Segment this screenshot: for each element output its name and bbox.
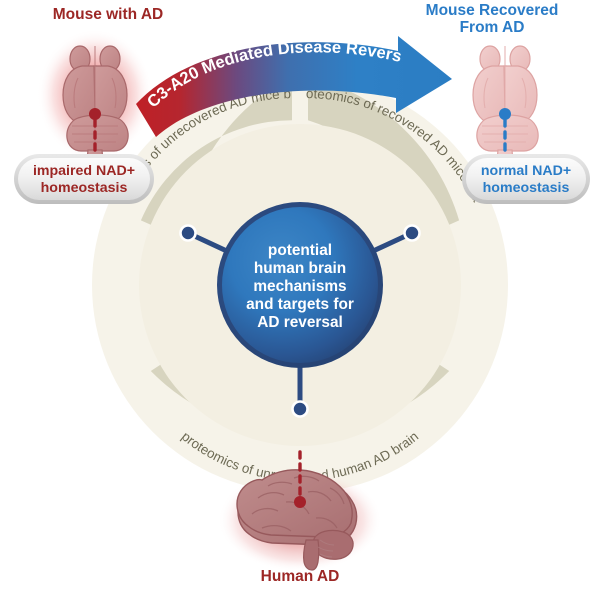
hub-line-4: and targets for — [246, 296, 354, 313]
title-mouse-with-ad: Mouse with AD — [8, 6, 208, 23]
human-ad-marker-dot — [294, 496, 306, 508]
hub-line-3: mechanisms — [253, 278, 346, 295]
connector-node-bottom — [293, 402, 308, 417]
title-human-ad: Human AD — [240, 568, 360, 585]
diagram-svg: proteomics of unrecovered AD mice brain … — [0, 0, 600, 598]
hub-line-5: AD reversal — [257, 314, 343, 331]
title-mouse-recovered: Mouse Recovered From AD — [392, 2, 592, 37]
pill-normal-nad-line1: normal NAD+ — [481, 163, 571, 179]
pill-impaired-nad[interactable]: impaired NAD+ homeostasis — [14, 154, 154, 204]
hub-line-1: potential — [268, 242, 332, 259]
pill-normal-nad-line2: homeostasis — [483, 180, 570, 196]
connector-node-left — [181, 226, 196, 241]
hub-line-2: human brain — [254, 260, 346, 277]
pill-normal-nad[interactable]: normal NAD+ homeostasis — [462, 154, 590, 204]
mouse-recovered-marker-dot — [499, 108, 511, 120]
title-mouse-recovered-line2: From AD — [392, 19, 592, 36]
title-mouse-recovered-line1: Mouse Recovered — [392, 2, 592, 19]
connector-node-right — [405, 226, 420, 241]
pill-impaired-nad-line2: homeostasis — [41, 180, 128, 196]
pill-impaired-nad-line1: impaired NAD+ — [33, 163, 135, 179]
figure-canvas: proteomics of unrecovered AD mice brain … — [0, 0, 600, 598]
mouse-ad-marker-dot — [89, 108, 101, 120]
